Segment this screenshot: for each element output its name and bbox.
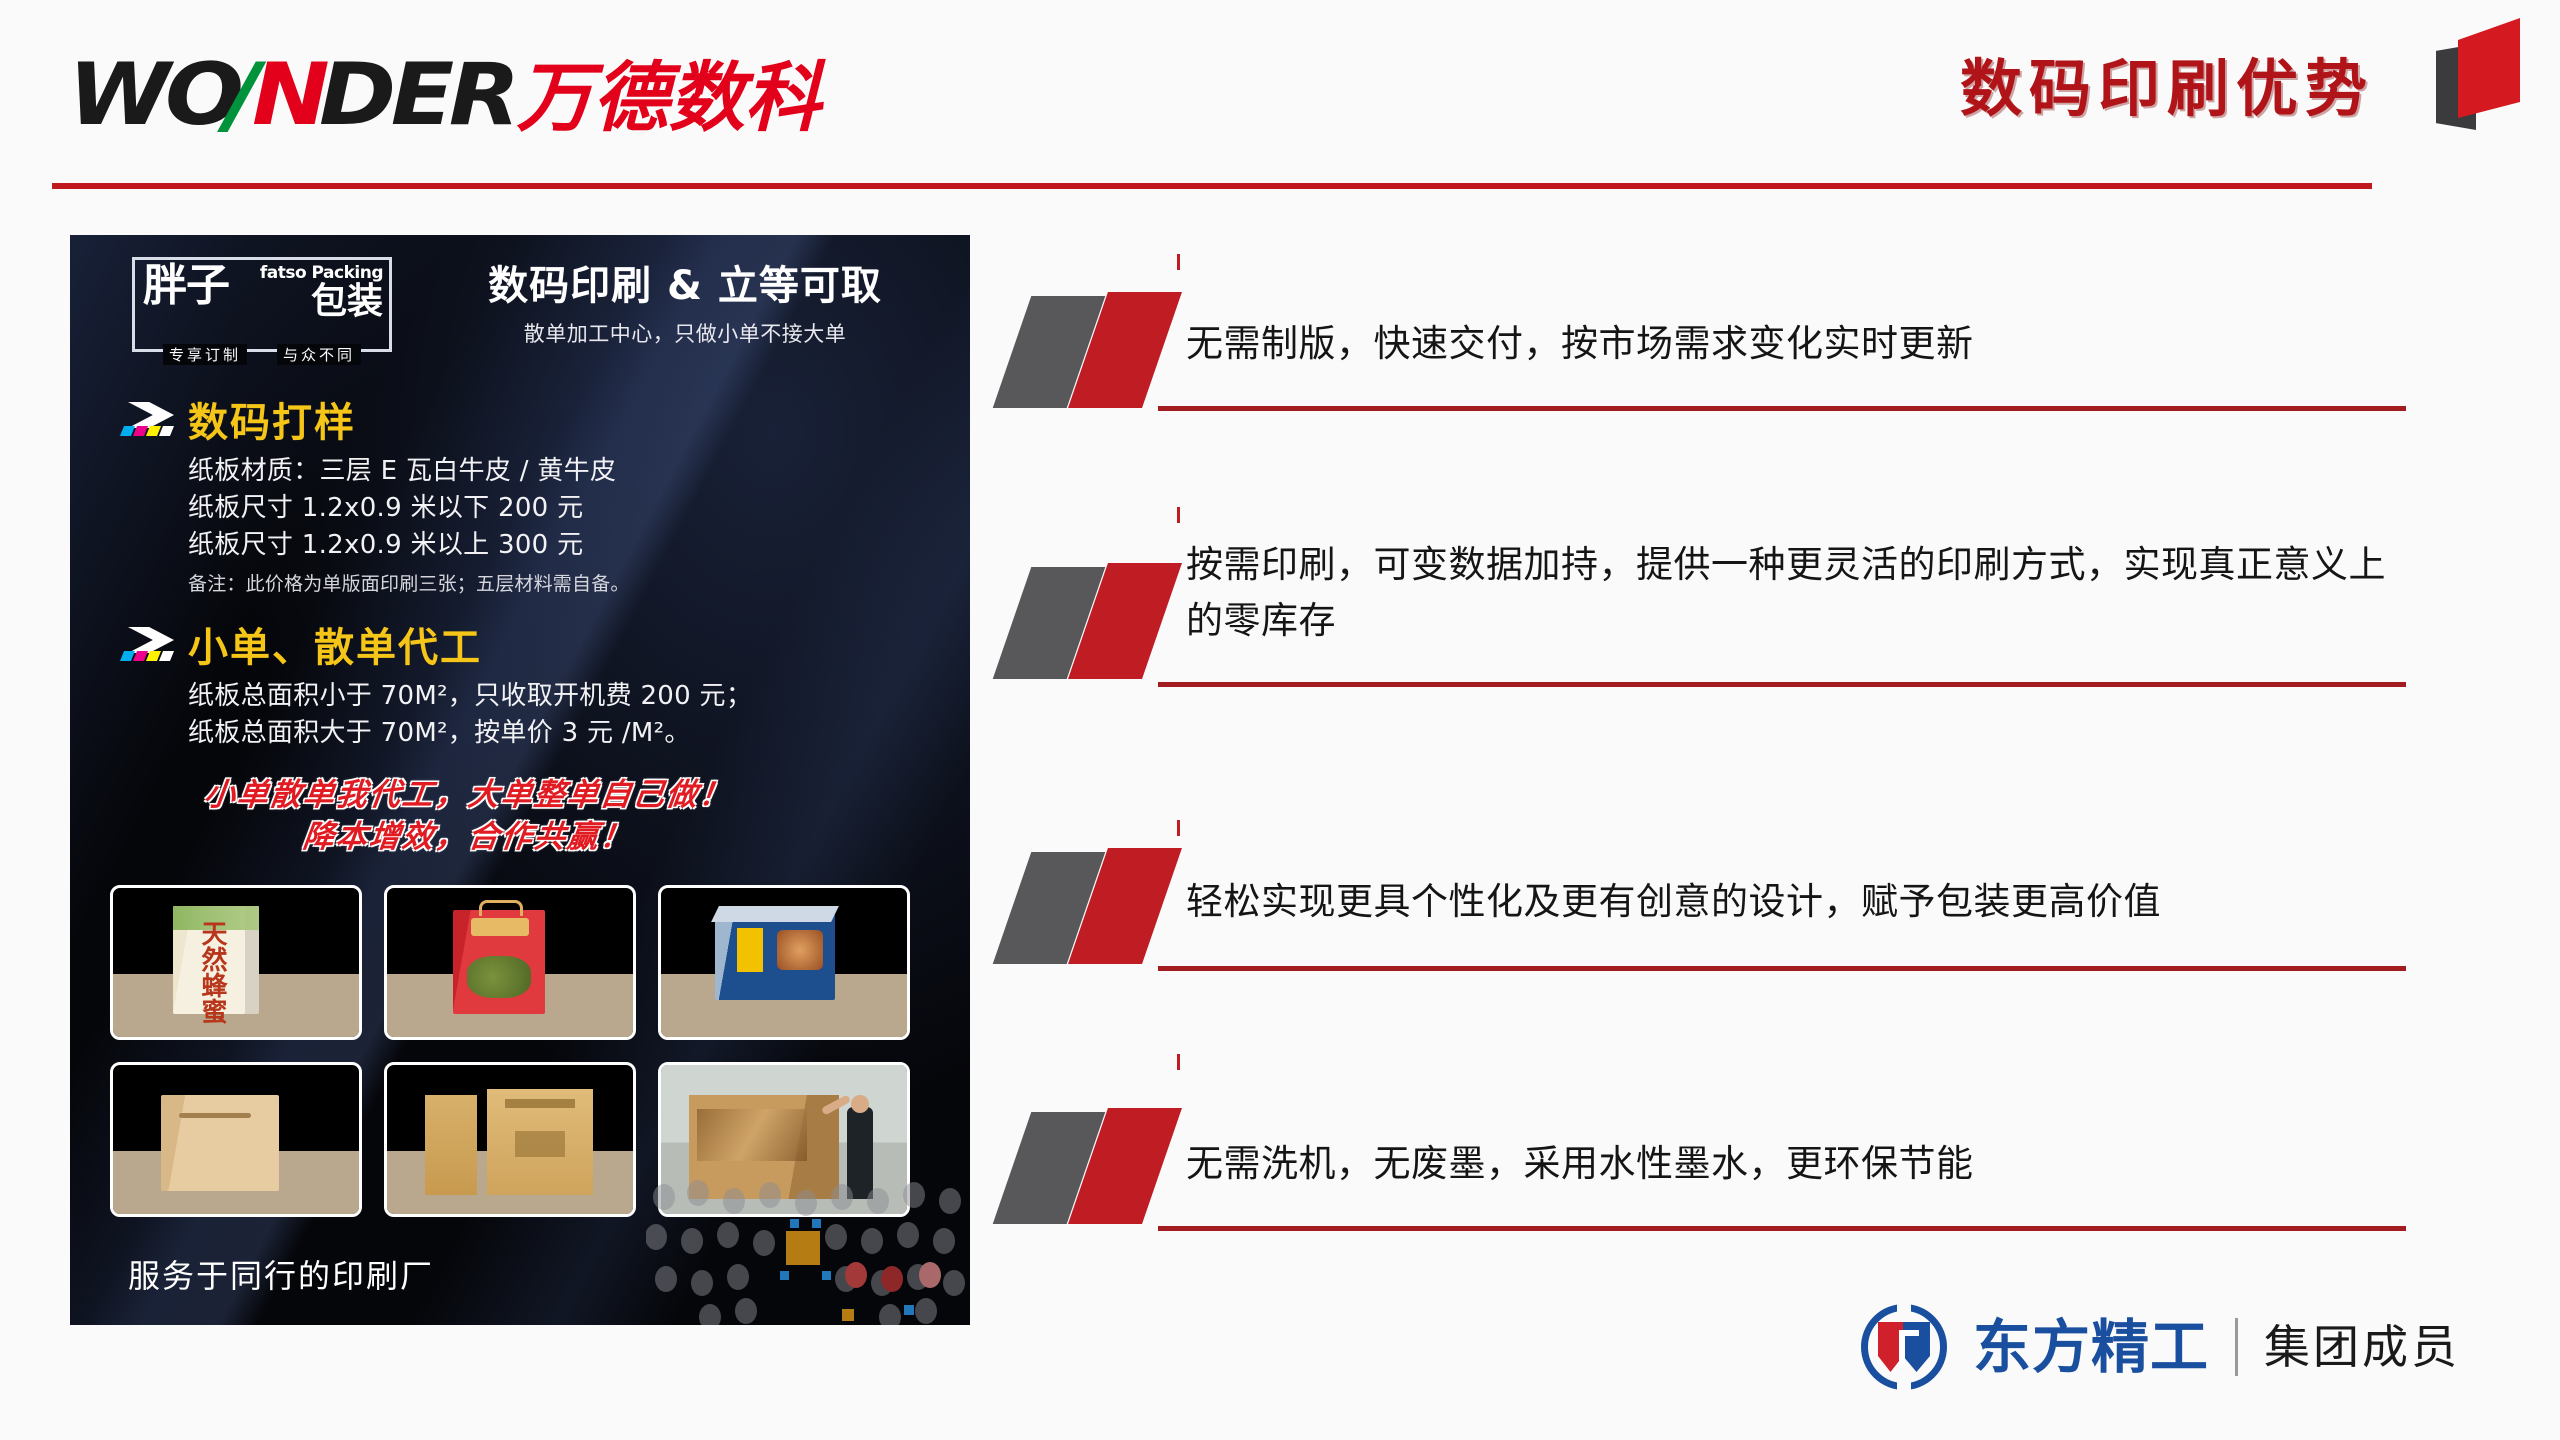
fatso-logo-english: fatso Packing (260, 263, 383, 283)
fatso-logo-packaging: 包装 (311, 284, 383, 320)
poster-product-photo-grid: 天然蜂蜜 (110, 885, 910, 1217)
product-photo: 天然蜂蜜 (110, 885, 362, 1040)
poster-section-small-order-oem: 小单、散单代工 纸板总面积小于 70M²，只收取开机费 200 元； 纸板总面积… (118, 625, 938, 752)
product-photo (110, 1062, 362, 1217)
brand-latin-n-red: N (252, 52, 324, 138)
dongfang-badge-icon (1861, 1304, 1947, 1390)
poster-headline-main: 数码印刷 & 立等可取 (430, 263, 940, 309)
poster-caption: 服务于同行的印刷厂 (128, 1251, 434, 1297)
poster-slogan-line: 小单散单我代工，大单整单自己做！ (115, 775, 820, 817)
poster-slogan-line: 降本增效，合作共赢！ (115, 817, 820, 859)
bullet-underline (1158, 406, 2406, 411)
wonder-brand-logo: WO / N DER 万德数科 (68, 52, 821, 138)
brand-latin-der: DER (319, 52, 515, 138)
poster-section-header: 小单、散单代工 (118, 625, 938, 671)
bullet-tick-mark (1177, 507, 1180, 523)
poster-section-line: 纸板总面积大于 70M²，按单价 3 元 /M²。 (188, 715, 938, 752)
footer-divider (2235, 1318, 2238, 1376)
advantage-text: 按需印刷，可变数据加持，提供一种更灵活的印刷方式，实现真正意义上的零库存 (1186, 537, 2386, 649)
brand-latin-n-green: / (226, 52, 255, 138)
poster-section-digital-proofing: 数码打样 纸板材质：三层 E 瓦白牛皮 / 黄牛皮 纸板尺寸 1.2x0.9 米… (118, 400, 938, 596)
poster-section-line: 纸板总面积小于 70M²，只收取开机费 200 元； (188, 678, 938, 715)
product-photo (384, 1062, 636, 1217)
fatso-tagline-left: 专享订制 (163, 344, 247, 365)
poster-headline: 数码印刷 & 立等可取 散单加工中心，只做小单不接大单 (430, 263, 940, 348)
footer-group-logo: 东方精工 集团成员 (1861, 1304, 2460, 1390)
poster-section-line: 纸板材质：三层 E 瓦白牛皮 / 黄牛皮 (188, 453, 938, 490)
brand-latin-wo: WO (68, 52, 239, 138)
fatso-logo-taglines: 专享订制 与众不同 (135, 344, 389, 365)
poster-section-line: 纸板尺寸 1.2x0.9 米以下 200 元 (188, 490, 938, 527)
poster-section-header: 数码打样 (118, 400, 938, 446)
footer-company-name: 东方精工 (1973, 1318, 2209, 1376)
bullet-tick-mark (1177, 820, 1180, 836)
poster-section-title: 小单、散单代工 (188, 628, 482, 668)
bullet-marker-icon (1010, 292, 1190, 410)
poster-section-note: 备注：此价格为单版面印刷三张；五层材料需自备。 (188, 569, 938, 596)
bullet-underline (1158, 1226, 2406, 1231)
bullet-underline (1158, 682, 2406, 687)
poster-section-body: 纸板总面积小于 70M²，只收取开机费 200 元； 纸板总面积大于 70M²，… (188, 678, 938, 752)
advantage-text: 轻松实现更具个性化及更有创意的设计，赋予包装更高价值 (1186, 874, 2386, 930)
corner-decoration-icon (2430, 2, 2540, 132)
promo-poster-image: 胖子 fatso Packing 包装 专享订制 与众不同 数码印刷 & 立等可… (70, 235, 970, 1325)
bullet-underline (1158, 966, 2406, 971)
bullet-marker-icon (1010, 1108, 1190, 1226)
fatso-packing-logo: 胖子 fatso Packing 包装 专享订制 与众不同 (132, 257, 392, 352)
page-title: 数码印刷优势 (1960, 38, 2374, 128)
poster-section-body: 纸板材质：三层 E 瓦白牛皮 / 黄牛皮 纸板尺寸 1.2x0.9 米以下 20… (188, 453, 938, 596)
product-photo (658, 885, 910, 1040)
footer-member-label: 集团成员 (2264, 1324, 2460, 1370)
cmyk-arrow-icon (118, 400, 176, 446)
cmyk-arrow-icon (118, 625, 176, 671)
bullet-tick-mark (1177, 1054, 1180, 1070)
advantage-text: 无需制版，快速交付，按市场需求变化实时更新 (1186, 316, 2386, 372)
brand-chinese: 万德数科 (517, 60, 821, 136)
poster-section-title: 数码打样 (188, 403, 356, 443)
bullet-tick-mark (1177, 254, 1180, 270)
poster-slogan: 小单散单我代工，大单整单自己做！ 降本增效，合作共赢！ (118, 775, 818, 859)
bullet-marker-icon (1010, 848, 1190, 966)
slide-header: WO / N DER 万德数科 数码印刷优势 (0, 0, 2560, 200)
header-divider (52, 183, 2372, 189)
fatso-tagline-right: 与众不同 (277, 344, 361, 365)
corner-red-shape (2458, 18, 2520, 118)
product-photo (384, 885, 636, 1040)
fatso-logo-main: 胖子 (143, 264, 229, 308)
poster-section-line: 纸板尺寸 1.2x0.9 米以上 300 元 (188, 527, 938, 564)
poster-headline-sub: 散单加工中心，只做小单不接大单 (430, 318, 940, 348)
advantage-text: 无需洗机，无废墨，采用水性墨水，更环保节能 (1186, 1136, 2386, 1192)
poster-dot-pattern-icon (646, 1179, 970, 1325)
bullet-marker-icon (1010, 563, 1190, 681)
